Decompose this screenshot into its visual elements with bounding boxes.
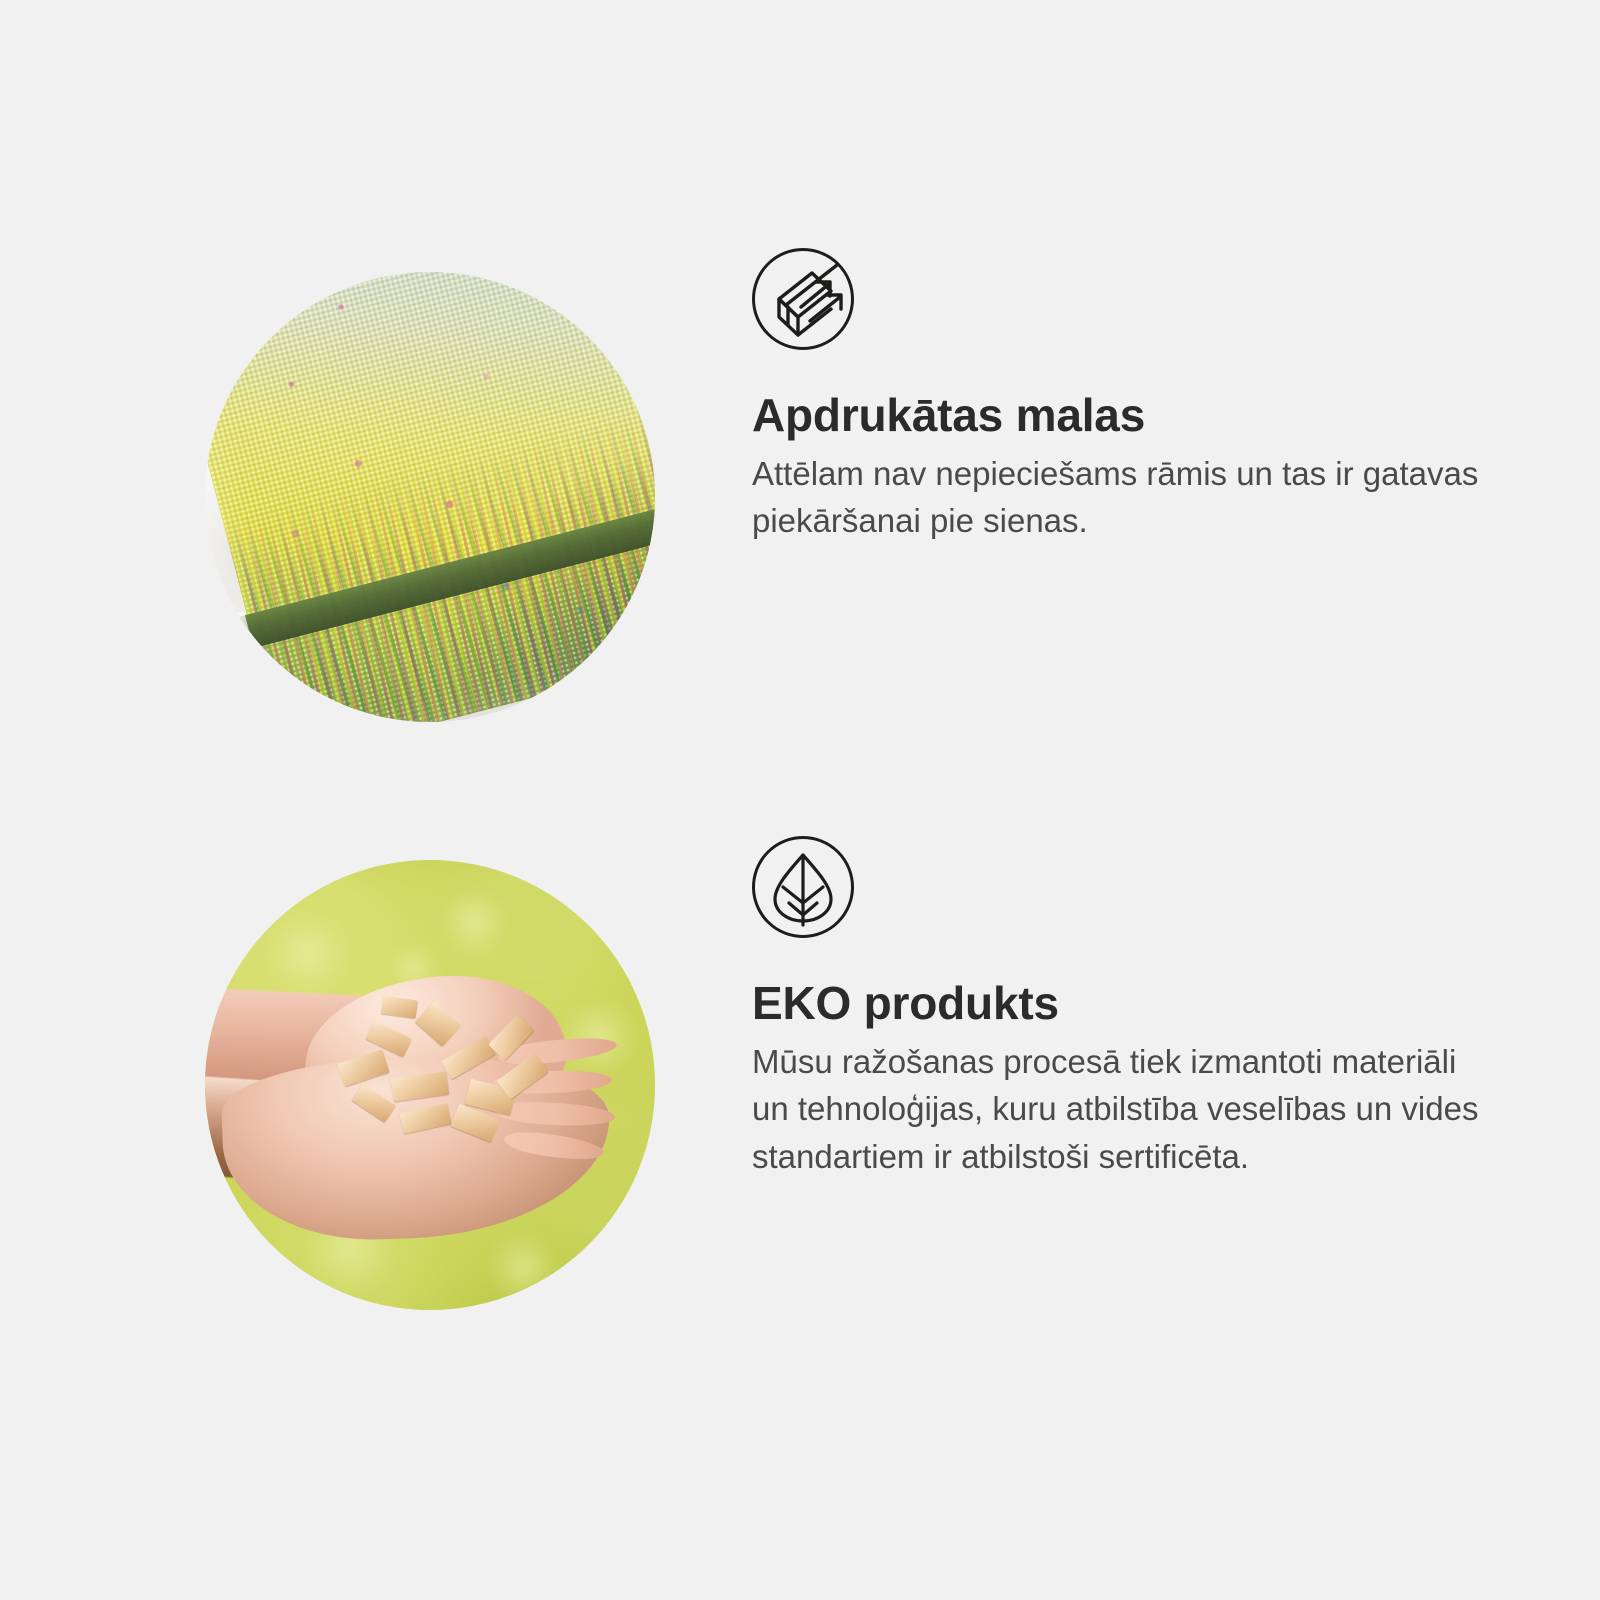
feature-image-canvas-edge — [205, 272, 655, 722]
feature-description: Attēlam nav nepieciešams rāmis un tas ir… — [752, 450, 1482, 545]
wood-chip — [441, 1036, 496, 1080]
bokeh-highlight — [439, 887, 509, 957]
leaf-icon — [752, 836, 854, 938]
bokeh-highlight — [259, 905, 355, 1001]
wood-chip — [381, 996, 418, 1019]
canvas-printed-face — [205, 272, 655, 722]
wood-chips-pile — [331, 995, 565, 1148]
feature-description: Mūsu ražošanas procesā tiek izmantoti ma… — [752, 1038, 1482, 1181]
feature-image-wood-chips — [205, 860, 655, 1310]
wood-chip — [497, 1054, 548, 1100]
feature-eco-product: EKO produkts Mūsu ražošanas procesā tiek… — [0, 836, 1600, 1396]
bokeh-highlight — [484, 1229, 562, 1307]
product-features-page: Apdrukātas malas Attēlam nav nepieciešam… — [0, 0, 1600, 1600]
wood-chip — [416, 1001, 462, 1047]
circular-image-mask — [205, 272, 655, 722]
feature-printed-edges: Apdrukātas malas Attēlam nav nepieciešam… — [0, 248, 1600, 808]
printed-edges-icon — [752, 248, 854, 350]
circular-image-mask — [205, 860, 655, 1310]
wood-chip — [338, 1050, 390, 1088]
feature-title: EKO produkts — [752, 978, 1492, 1030]
wood-chip — [352, 1083, 396, 1122]
feature-title: Apdrukātas malas — [752, 390, 1492, 442]
wood-chip — [399, 1103, 452, 1134]
feature-text-printed-edges: Apdrukātas malas Attēlam nav nepieciešam… — [752, 248, 1492, 545]
wood-chip — [391, 1071, 450, 1102]
feature-text-eco-product: EKO produkts Mūsu ražošanas procesā tiek… — [752, 836, 1492, 1180]
canvas-print-edge-photo — [205, 272, 655, 722]
wood-chips-in-hands-photo — [205, 860, 655, 1310]
